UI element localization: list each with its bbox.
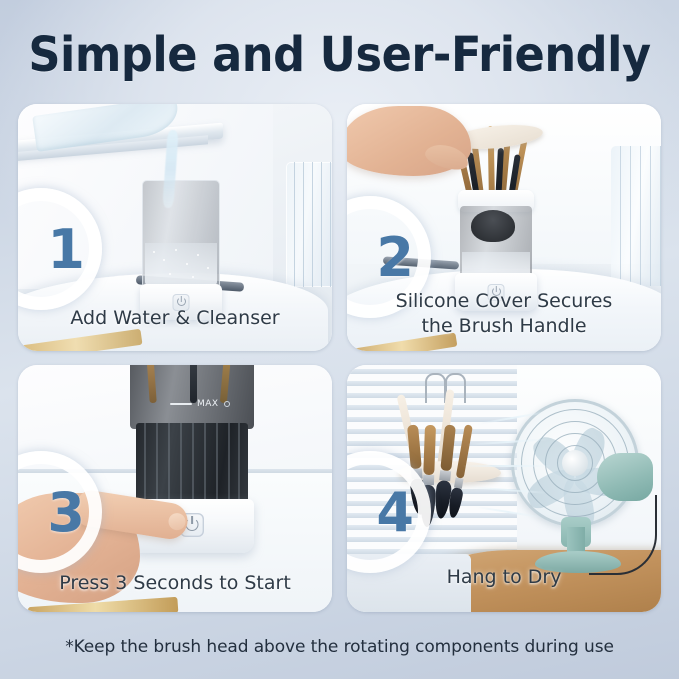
transparent-cup xyxy=(142,180,220,288)
max-dot xyxy=(224,401,230,407)
brush-head-inside-cup xyxy=(471,210,515,242)
max-fill-indicator: MAX xyxy=(170,399,230,409)
step-card-2[interactable]: 2 Silicone Cover Secures the Brush Handl… xyxy=(347,104,661,351)
footnote-text: *Keep the brush head above the rotating … xyxy=(0,637,679,657)
step-card-1[interactable]: 1 Add Water & Cleanser xyxy=(18,104,332,351)
transparent-tank: MAX xyxy=(130,365,254,429)
max-label: MAX xyxy=(197,399,219,409)
step-number-3: 3 xyxy=(18,464,89,560)
ribbed-glass-jar xyxy=(286,162,332,287)
steps-grid: 1 Add Water & Cleanser xyxy=(18,104,661,612)
water-level xyxy=(145,243,217,285)
brush-handle xyxy=(423,425,436,475)
brush-ferrule xyxy=(423,475,434,485)
step-caption-1: Add Water & Cleanser xyxy=(18,306,332,331)
device-body-ribbed xyxy=(136,423,248,505)
infographic-page: Simple and User-Friendly xyxy=(0,0,679,679)
fan-motor-housing xyxy=(597,453,653,501)
fan-hub xyxy=(562,450,588,476)
fingertip xyxy=(167,512,186,531)
step-caption-2-line2: the Brush Handle xyxy=(347,314,661,339)
brush-cleaner-device xyxy=(142,180,220,320)
step-number-1: 1 xyxy=(18,201,89,297)
step-card-4[interactable]: 4 Hang to Dry xyxy=(347,365,661,612)
step-caption-3: Press 3 Seconds to Start xyxy=(18,571,332,596)
step-caption-2: Silicone Cover Secures the Brush Handle xyxy=(347,289,661,339)
step-caption-2-line1: Silicone Cover Secures xyxy=(347,289,661,314)
electric-fan xyxy=(505,399,655,569)
step-caption-4: Hang to Dry xyxy=(347,565,661,590)
step-card-3[interactable]: MAX xyxy=(18,365,332,612)
ribbed-glass-jar xyxy=(611,146,661,286)
power-cord xyxy=(589,495,657,575)
max-line xyxy=(170,403,192,405)
brush-ferrule xyxy=(439,470,451,481)
page-title: Simple and User-Friendly xyxy=(24,26,655,84)
step-number-4: 4 xyxy=(347,464,418,560)
